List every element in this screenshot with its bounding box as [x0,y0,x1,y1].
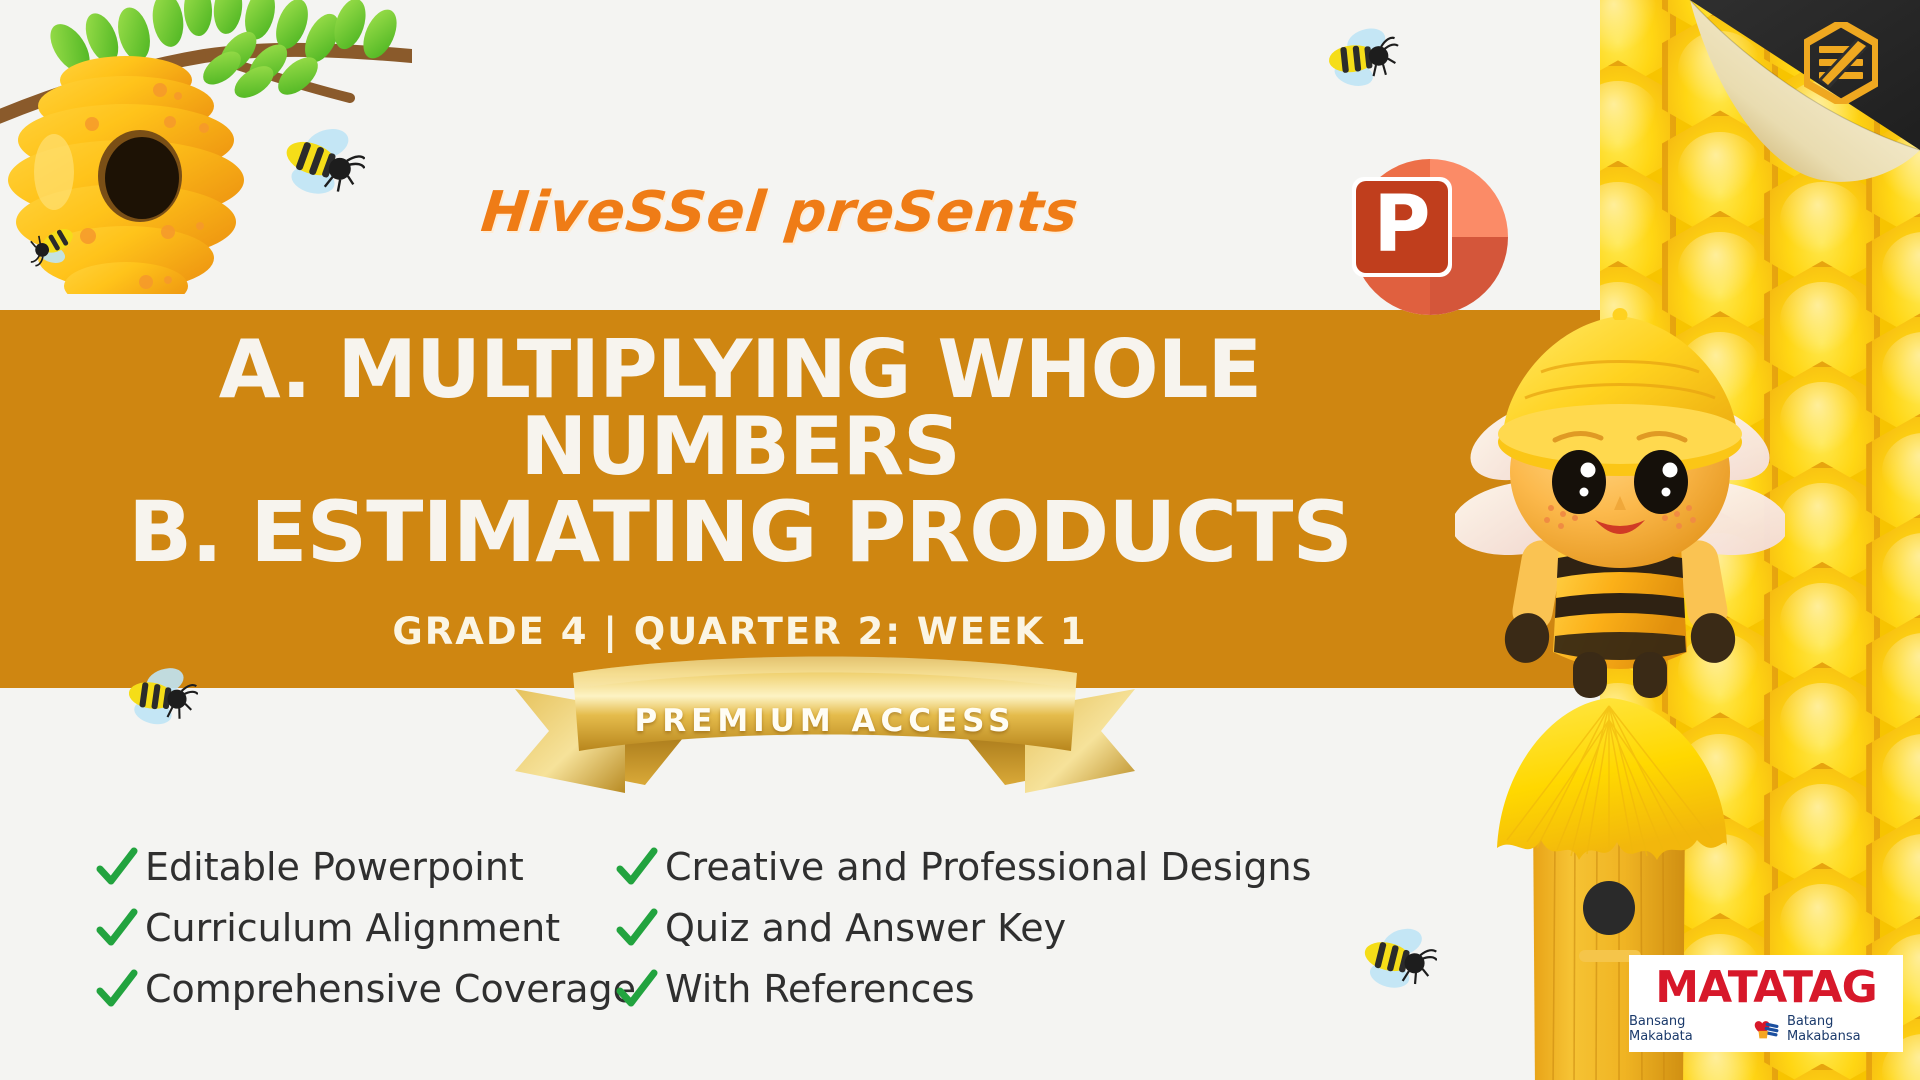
feature-label: Quiz and Answer Key [665,906,1066,951]
matatag-tagline-right: Batang Makabansa [1787,1014,1903,1044]
feature-lists: Editable Powerpoint Curriculum Alignment… [95,845,1495,1011]
feature-item: Comprehensive Coverage [95,967,615,1012]
check-icon [615,906,659,950]
matatag-logo: MATATAG Bansang Makabata Batang Makabans… [1629,955,1903,1052]
check-icon [95,906,139,950]
hands-heart-icon [1751,1017,1781,1041]
feature-label: Creative and Professional Designs [665,845,1311,890]
feature-item: Quiz and Answer Key [615,906,1315,951]
check-icon [95,967,139,1011]
bee-icon [120,660,198,730]
svg-text:P: P [1373,180,1430,270]
page-title: A. MULTIPLYING WHOLE NUMBERS B. ESTIMATI… [60,332,1420,572]
feature-item: With References [615,967,1315,1012]
title-line-1: A. MULTIPLYING WHOLE [60,332,1420,409]
hexagon-hive-logo-icon [1804,22,1878,104]
matatag-wordmark: MATATAG [1655,966,1876,1010]
bee-mascot-icon [1455,300,1785,730]
feature-column-right: Creative and Professional Designs Quiz a… [615,845,1315,1011]
check-icon [615,967,659,1011]
matatag-tagline: Bansang Makabata Batang Makabansa [1629,1014,1903,1044]
check-icon [615,845,659,889]
bee-icon [20,215,82,271]
powerpoint-icon: P [1330,135,1525,330]
title-line-3: B. ESTIMATING PRODUCTS [60,492,1420,573]
feature-item: Curriculum Alignment [95,906,615,951]
feature-label: Comprehensive Coverage [145,967,636,1012]
feature-item: Creative and Professional Designs [615,845,1315,890]
presents-heading: HiveSSel preSents [0,180,1563,245]
check-icon [95,845,139,889]
poster-canvas: HiveSSel preSents P A. MULTIPLYING WHOLE… [0,0,1920,1080]
matatag-tagline-left: Bansang Makabata [1629,1014,1745,1044]
premium-access-ribbon [505,655,1145,805]
title-subtitle: GRADE 4 | QUARTER 2: WEEK 1 [60,610,1420,653]
feature-label: Editable Powerpoint [145,845,524,890]
feature-label: With References [665,967,975,1012]
feature-column-left: Editable Powerpoint Curriculum Alignment… [95,845,615,1011]
bee-icon [1320,20,1400,92]
bee-icon [275,120,365,200]
feature-item: Editable Powerpoint [95,845,615,890]
feature-label: Curriculum Alignment [145,906,560,951]
bee-icon [1355,920,1437,994]
title-line-2: NUMBERS [60,409,1420,486]
